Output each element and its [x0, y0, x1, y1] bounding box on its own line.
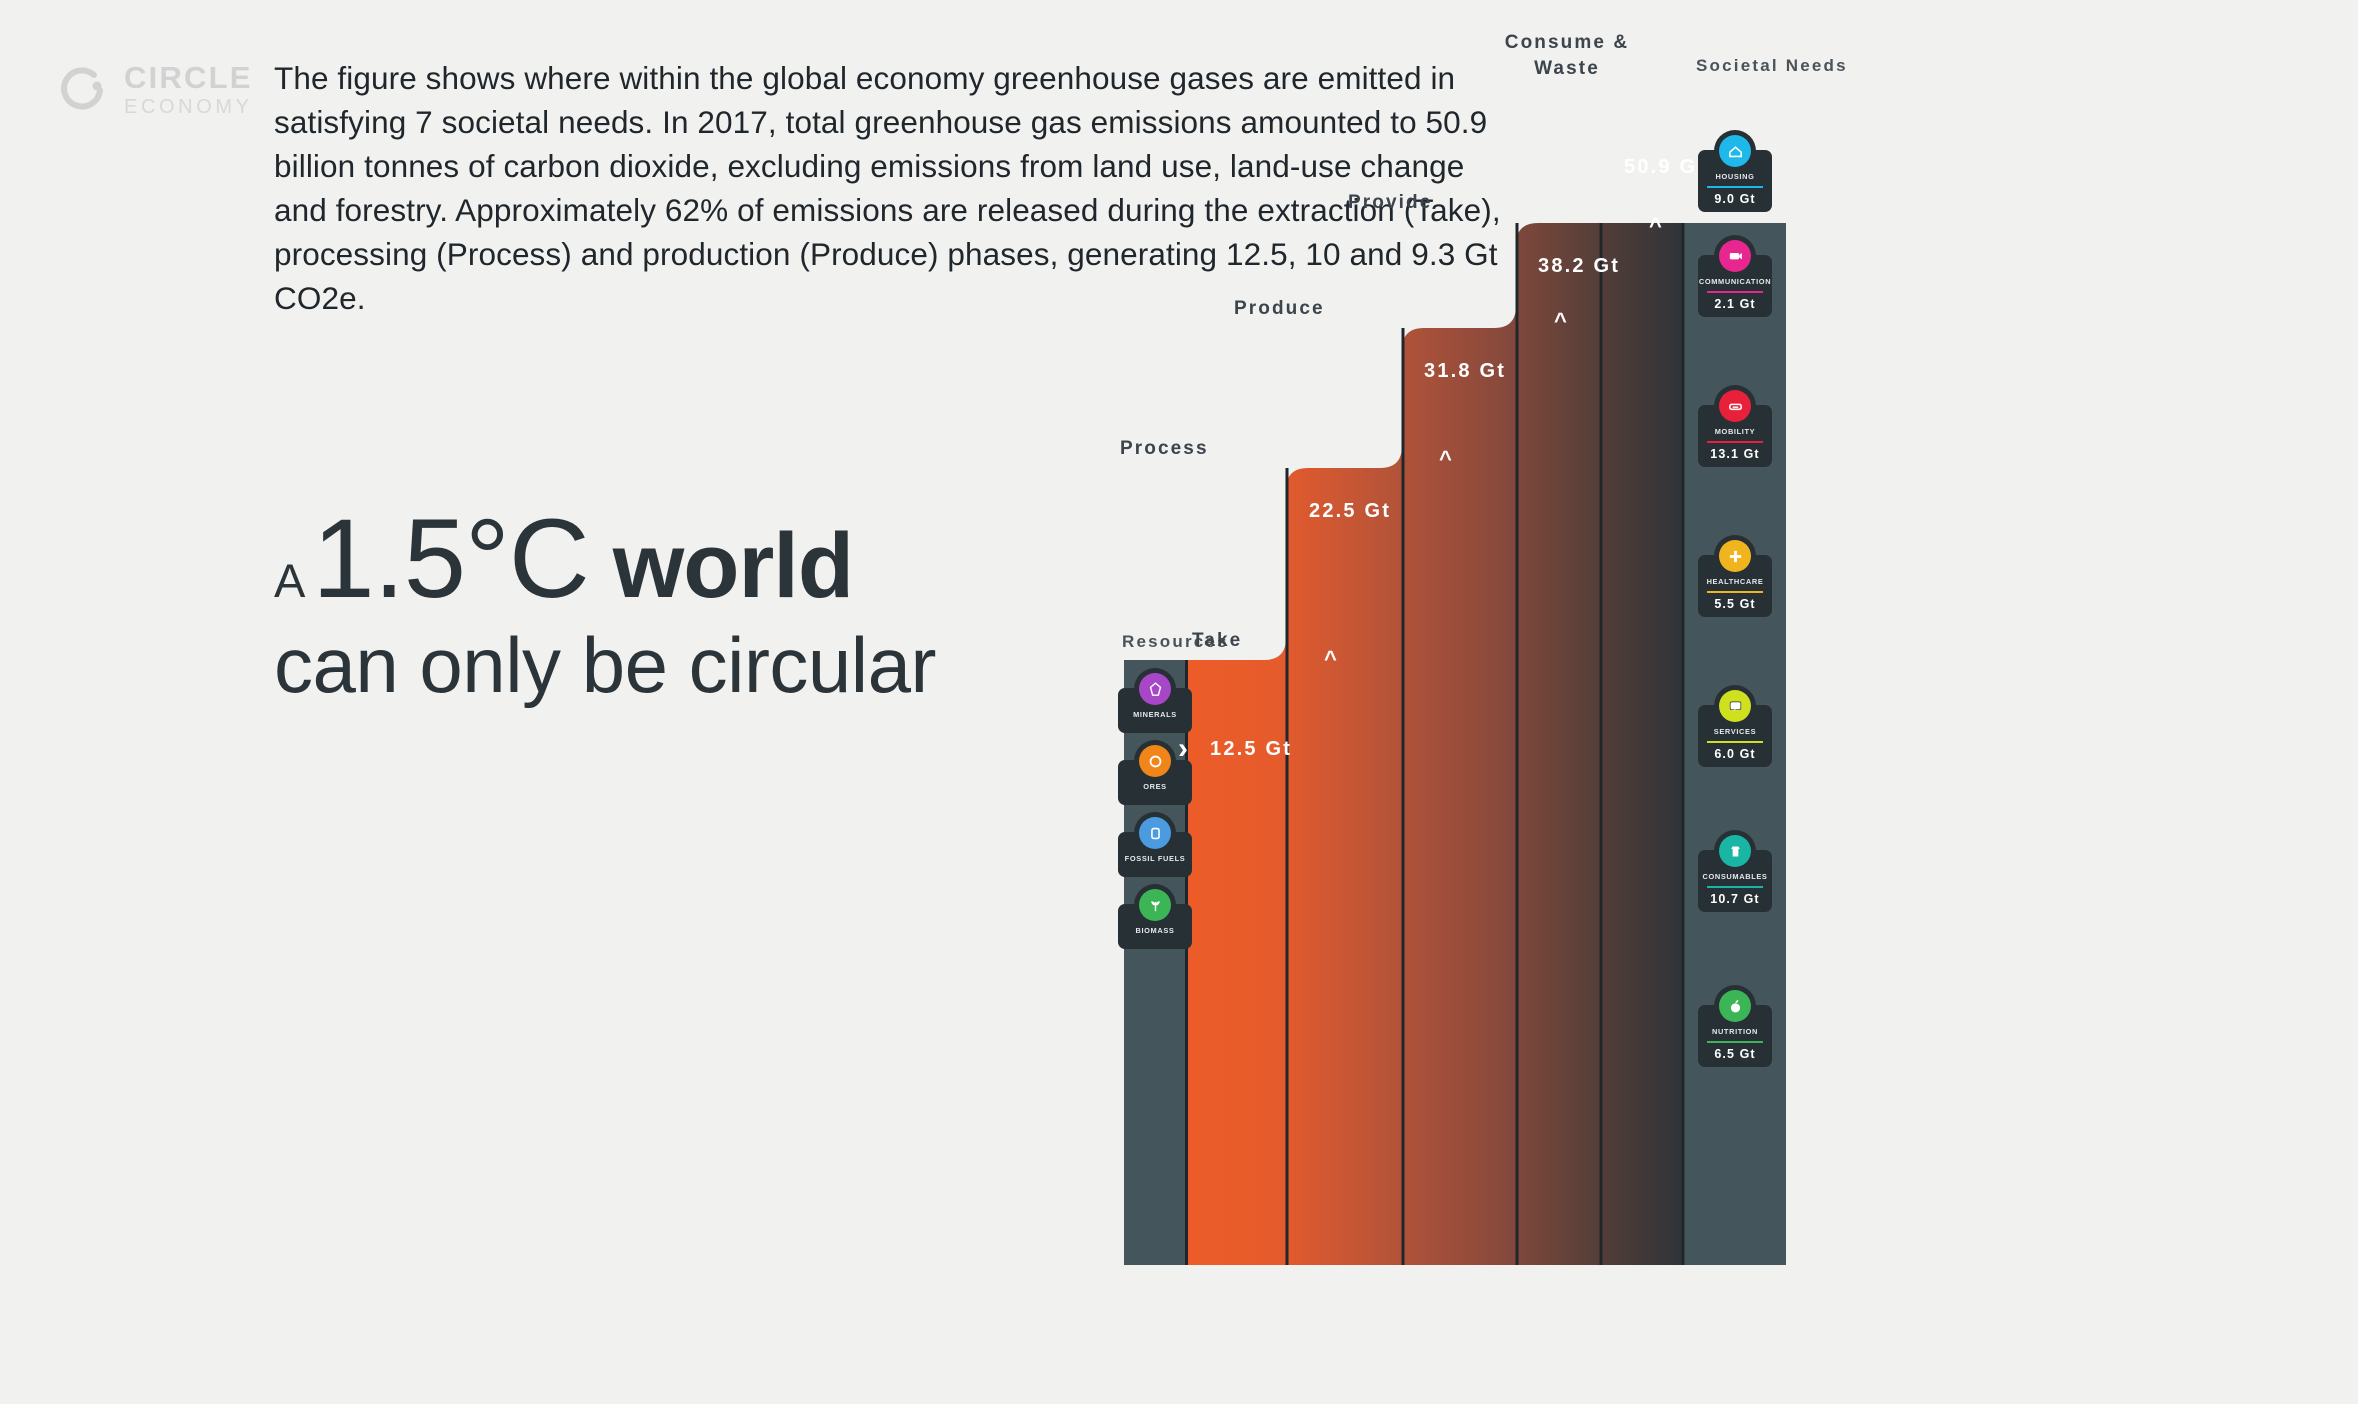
resource-card-biomass[interactable]: BIOMASS: [1118, 904, 1192, 949]
emissions-staircase-chart: Resources Societal Needs Take 12.5 Gt › …: [1124, 60, 1970, 1265]
stage-label-consume-waste: Consume & Waste: [1502, 30, 1632, 81]
need-rule: [1707, 291, 1763, 293]
need-card-nutrition[interactable]: NUTRITION 6.5 Gt: [1698, 1005, 1772, 1067]
need-card-healthcare[interactable]: HEALTHCARE 5.5 Gt: [1698, 555, 1772, 617]
chevron-up-icon-take: ^: [1324, 648, 1337, 670]
stage-value-process: 22.5 Gt: [1309, 500, 1391, 523]
brand-name-line2: ECONOMY: [124, 97, 253, 117]
resource-name: MINERALS: [1131, 710, 1179, 719]
chevron-up-icon-process: ^: [1439, 448, 1452, 470]
need-value: 5.5 Gt: [1714, 597, 1755, 611]
need-card-services[interactable]: SERVICES 6.0 Gt: [1698, 705, 1772, 767]
chevron-up-icon-provide: ^: [1649, 215, 1662, 237]
need-value: 10.7 Gt: [1710, 892, 1759, 906]
need-rule: [1707, 591, 1763, 593]
need-rule: [1707, 741, 1763, 743]
housing-icon: [1719, 135, 1751, 167]
stage-value-produce: 31.8 Gt: [1424, 360, 1506, 383]
services-icon: [1719, 690, 1751, 722]
need-name: COMMUNICATION: [1697, 277, 1773, 286]
need-name: HEALTHCARE: [1705, 577, 1766, 586]
biomass-icon: [1139, 889, 1171, 921]
brand-wordmark: CIRCLE ECONOMY: [124, 62, 253, 117]
ores-icon: [1139, 745, 1171, 777]
nutrition-icon: [1719, 990, 1751, 1022]
need-card-communication[interactable]: COMMUNICATION 2.1 Gt: [1698, 255, 1772, 317]
need-card-mobility[interactable]: MOBILITY 13.1 Gt: [1698, 405, 1772, 467]
circle-economy-logo-icon: [56, 64, 108, 116]
resource-name: ORES: [1141, 782, 1169, 791]
resource-name: BIOMASS: [1133, 926, 1176, 935]
societal-needs-column-header: Societal Needs: [1696, 56, 1848, 76]
resource-card-fossil-fuels[interactable]: FOSSIL FUELS: [1118, 832, 1192, 877]
stage-value-provide: 38.2 Gt: [1538, 255, 1620, 278]
page-subtitle: can only be circular: [274, 620, 936, 711]
resource-card-ores[interactable]: ORES: [1118, 760, 1192, 805]
need-name: SERVICES: [1712, 727, 1758, 736]
consumables-icon: [1719, 835, 1751, 867]
headline-temperature: 1.5°C: [312, 494, 588, 623]
resource-card-minerals[interactable]: MINERALS: [1118, 688, 1192, 733]
headline-article: A: [274, 553, 306, 608]
brand-logo: CIRCLE ECONOMY: [56, 62, 253, 117]
stage-label-provide: Provide: [1348, 192, 1432, 214]
need-rule: [1707, 886, 1763, 888]
need-name: NUTRITION: [1710, 1027, 1760, 1036]
need-rule: [1707, 1041, 1763, 1043]
chart-flow-graphic: [1124, 60, 1970, 1265]
slide-canvas: CIRCLE ECONOMY The figure shows where wi…: [0, 0, 2358, 1404]
communication-icon: [1719, 240, 1751, 272]
need-value: 6.5 Gt: [1714, 1047, 1755, 1061]
need-card-consumables[interactable]: CONSUMABLES 10.7 Gt: [1698, 850, 1772, 912]
need-card-housing[interactable]: HOUSING 9.0 Gt: [1698, 150, 1772, 212]
fossil-fuels-icon: [1139, 817, 1171, 849]
need-rule: [1707, 441, 1763, 443]
stage-value-consume-waste: 50.9 Gt: [1624, 156, 1706, 179]
need-value: 2.1 Gt: [1714, 297, 1755, 311]
need-value: 9.0 Gt: [1714, 192, 1755, 206]
need-value: 13.1 Gt: [1710, 447, 1759, 461]
stage-value-take: 12.5 Gt: [1210, 738, 1292, 761]
chevron-up-icon-produce: ^: [1554, 310, 1567, 332]
minerals-icon: [1139, 673, 1171, 705]
page-title: A 1.5°C world: [274, 494, 853, 623]
brand-name-line1: CIRCLE: [124, 62, 253, 93]
mobility-icon: [1719, 390, 1751, 422]
stage-label-take: Take: [1192, 630, 1242, 652]
need-name: CONSUMABLES: [1700, 872, 1769, 881]
healthcare-icon: [1719, 540, 1751, 572]
stage-label-produce: Produce: [1234, 298, 1325, 320]
need-name: MOBILITY: [1713, 427, 1758, 436]
headline-emphasis: world: [613, 514, 853, 619]
need-rule: [1707, 186, 1763, 188]
need-name: HOUSING: [1713, 172, 1756, 181]
need-value: 6.0 Gt: [1714, 747, 1755, 761]
stage-label-process: Process: [1120, 438, 1209, 460]
resource-name: FOSSIL FUELS: [1123, 854, 1188, 863]
